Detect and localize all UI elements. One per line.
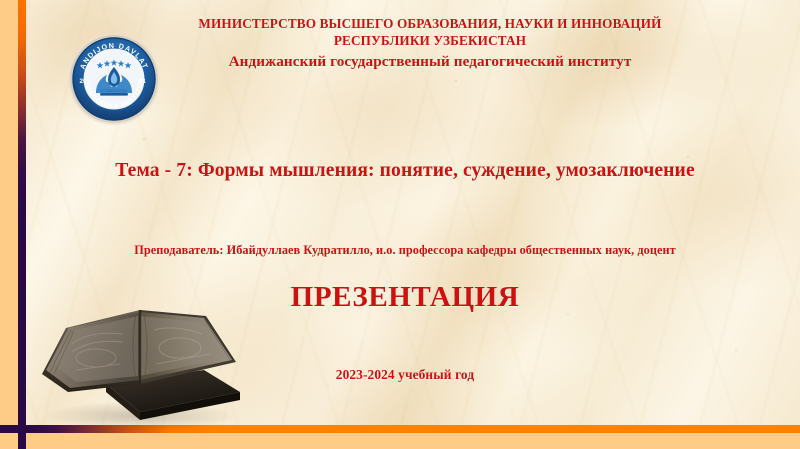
topic-title: Тема - 7: Формы мышления: понятие, сужде… xyxy=(20,159,790,183)
ministry-line-2: РЕСПУБЛИКИ УЗБЕКИСТАН xyxy=(80,33,780,49)
corner-stripe-joint xyxy=(18,425,26,449)
ministry-line-1: МИНИСТЕРСТВО ВЫСШЕГО ОБРАЗОВАНИЯ, НАУКИ … xyxy=(80,16,780,32)
logo-year-left: 20 xyxy=(80,78,88,85)
institute-name: Андижанский государственный педагогическ… xyxy=(80,53,780,72)
academic-year: 2023-2024 учебный год xyxy=(20,367,790,383)
logo-center-text: O'ZBEKISTON xyxy=(101,89,128,93)
lecturer-line: Преподаватель: Ибайдуллаев Кудратилло, и… xyxy=(20,243,790,258)
bottom-edge-band xyxy=(0,432,800,449)
presentation-heading: ПРЕЗЕНТАЦИЯ xyxy=(20,280,790,315)
presentation-slide: ANDIJON DAVLAT PEDAGOGIKA INSTITUTI 20 2… xyxy=(0,0,800,449)
left-edge-band xyxy=(0,0,18,449)
logo-year-right: 21 xyxy=(139,78,147,85)
